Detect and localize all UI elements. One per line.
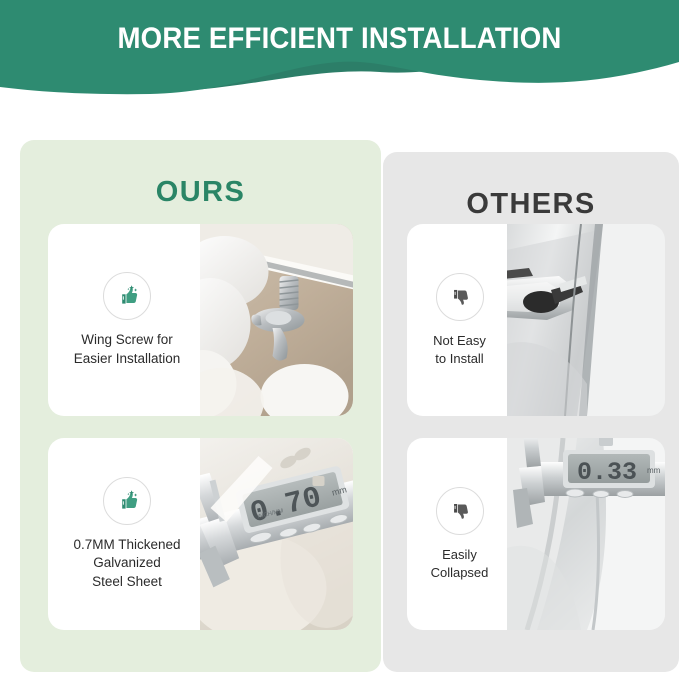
others-card-1-photo xyxy=(507,224,665,416)
others-caliper-reading: 0.33 xyxy=(577,458,637,487)
page-title: MORE EFFICIENT INSTALLATION xyxy=(27,22,652,56)
ours-card-2-info: 0.7MM Thickened Galvanized Steel Sheet xyxy=(48,438,206,630)
label-line: to Install xyxy=(433,350,486,368)
ours-card-wing-screw: Wing Screw for Easier Installation xyxy=(48,224,353,416)
thumbs-up-sparkle-icon xyxy=(103,477,151,525)
label-line: Galvanized xyxy=(73,554,180,573)
others-card-not-easy-install: Not Easy to Install xyxy=(407,224,665,416)
ours-card-2-label: 0.7MM Thickened Galvanized Steel Sheet xyxy=(73,536,180,592)
ours-card-1-photo xyxy=(200,224,353,416)
label-line: 0.7MM Thickened xyxy=(73,536,180,555)
others-card-1-label: Not Easy to Install xyxy=(433,332,486,368)
label-line: Not Easy xyxy=(433,332,486,350)
thumbs-up-sparkle-icon xyxy=(103,272,151,320)
ours-card-2-photo: 0.70 mm INCH/MM xyxy=(200,438,353,630)
comparison-area: OURS Wing Screw for Easier Installa xyxy=(0,0,679,679)
others-card-easily-collapsed: Easily Collapsed xyxy=(407,438,665,630)
label-line: Wing Screw for xyxy=(74,331,181,350)
others-card-2-photo: 0.33 mm xyxy=(507,438,665,630)
label-line: Steel Sheet xyxy=(73,573,180,592)
others-card-2-info: Easily Collapsed xyxy=(407,438,512,630)
others-panel: OTHERS Not Easy to Install xyxy=(383,152,679,672)
thumbs-down-icon xyxy=(436,273,484,321)
others-card-1-info: Not Easy to Install xyxy=(407,224,512,416)
ours-card-steel-sheet: 0.7MM Thickened Galvanized Steel Sheet xyxy=(48,438,353,630)
others-heading: OTHERS xyxy=(383,188,679,221)
thumbs-down-icon xyxy=(436,487,484,535)
others-card-2-label: Easily Collapsed xyxy=(431,546,489,582)
svg-text:mm: mm xyxy=(647,466,661,475)
label-line: Easily xyxy=(431,546,489,564)
label-line: Collapsed xyxy=(431,564,489,582)
ours-card-1-info: Wing Screw for Easier Installation xyxy=(48,224,206,416)
ours-card-1-label: Wing Screw for Easier Installation xyxy=(74,331,181,368)
label-line: Easier Installation xyxy=(74,350,181,369)
ours-panel: OURS Wing Screw for Easier Installa xyxy=(20,140,381,672)
ours-heading: OURS xyxy=(20,176,381,209)
